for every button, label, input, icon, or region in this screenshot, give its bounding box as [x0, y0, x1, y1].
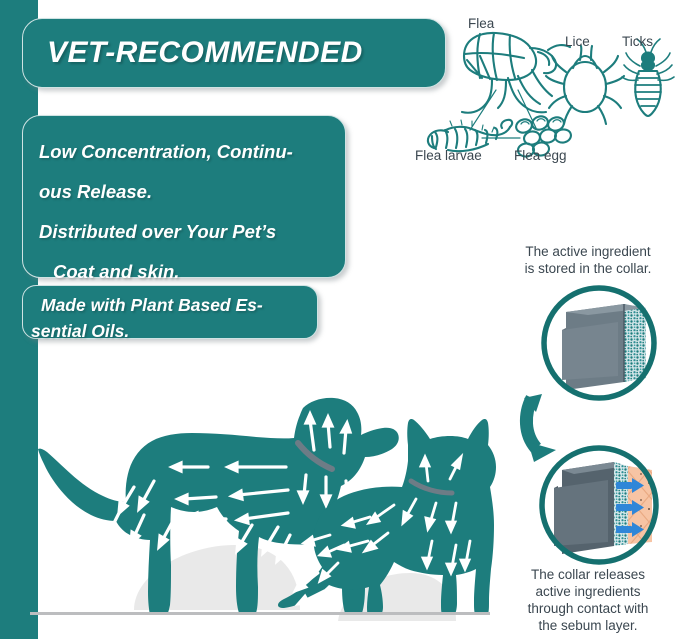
flea-larvae-icon	[428, 120, 512, 151]
ground-line	[30, 612, 490, 615]
header-banner: VET-RECOMMENDED	[22, 18, 446, 88]
collar-caption-bottom-line-1: The collar releases	[498, 566, 678, 583]
collar-caption-bottom-line-4: the sebum layer.	[498, 617, 678, 634]
pest-label-flea-egg: Flea egg	[514, 148, 567, 163]
benefit-line-3: Distributed over Your Pet’s	[39, 212, 331, 252]
collar-block-top	[562, 304, 646, 390]
collar-closeup-top	[528, 284, 670, 402]
ticks-icon	[622, 39, 674, 116]
lice-icon	[546, 46, 624, 124]
collar-closeup-bottom-svg	[528, 444, 670, 570]
pest-label-lice: Lice	[565, 34, 590, 49]
benefit-panel: Low Concentration, Continu- ous Release.…	[22, 115, 346, 278]
pest-label-flea-larvae: Flea larvae	[415, 148, 482, 163]
animals-illustration	[38, 395, 568, 639]
collar-caption-top-line-2: is stored in the collar.	[498, 260, 678, 277]
collar-closeup-bottom	[528, 444, 670, 570]
active-ingredient-arrows	[616, 478, 644, 537]
benefit-line-1: Low Concentration, Continu-	[39, 132, 331, 172]
collar-caption-bottom-line-2: active ingredients	[498, 583, 678, 600]
oils-line-2: sential Oils.	[31, 318, 307, 344]
pest-label-ticks: Ticks	[622, 34, 653, 49]
collar-caption-bottom: The collar releases active ingredients t…	[498, 566, 678, 634]
vet-recommended-infographic: VET-RECOMMENDED Low Concentration, Conti…	[0, 0, 679, 639]
essential-oils-panel: Made with Plant Based Es- sential Oils.	[22, 285, 318, 339]
collar-caption-top: The active ingredient is stored in the c…	[498, 243, 678, 277]
benefit-line-2: ous Release.	[39, 172, 331, 212]
pest-label-flea: Flea	[468, 16, 494, 31]
collar-caption-bottom-line-3: through contact with	[498, 600, 678, 617]
page-title: VET-RECOMMENDED	[23, 36, 363, 70]
collar-caption-top-line-1: The active ingredient	[498, 243, 678, 260]
flea-icon	[462, 33, 570, 113]
oils-line-1: Made with Plant Based Es-	[41, 292, 307, 318]
animals-svg	[38, 395, 568, 639]
collar-closeup-top-svg	[528, 284, 670, 402]
pest-diagram: Flea Lice Ticks Flea larvae Flea egg	[420, 8, 679, 180]
